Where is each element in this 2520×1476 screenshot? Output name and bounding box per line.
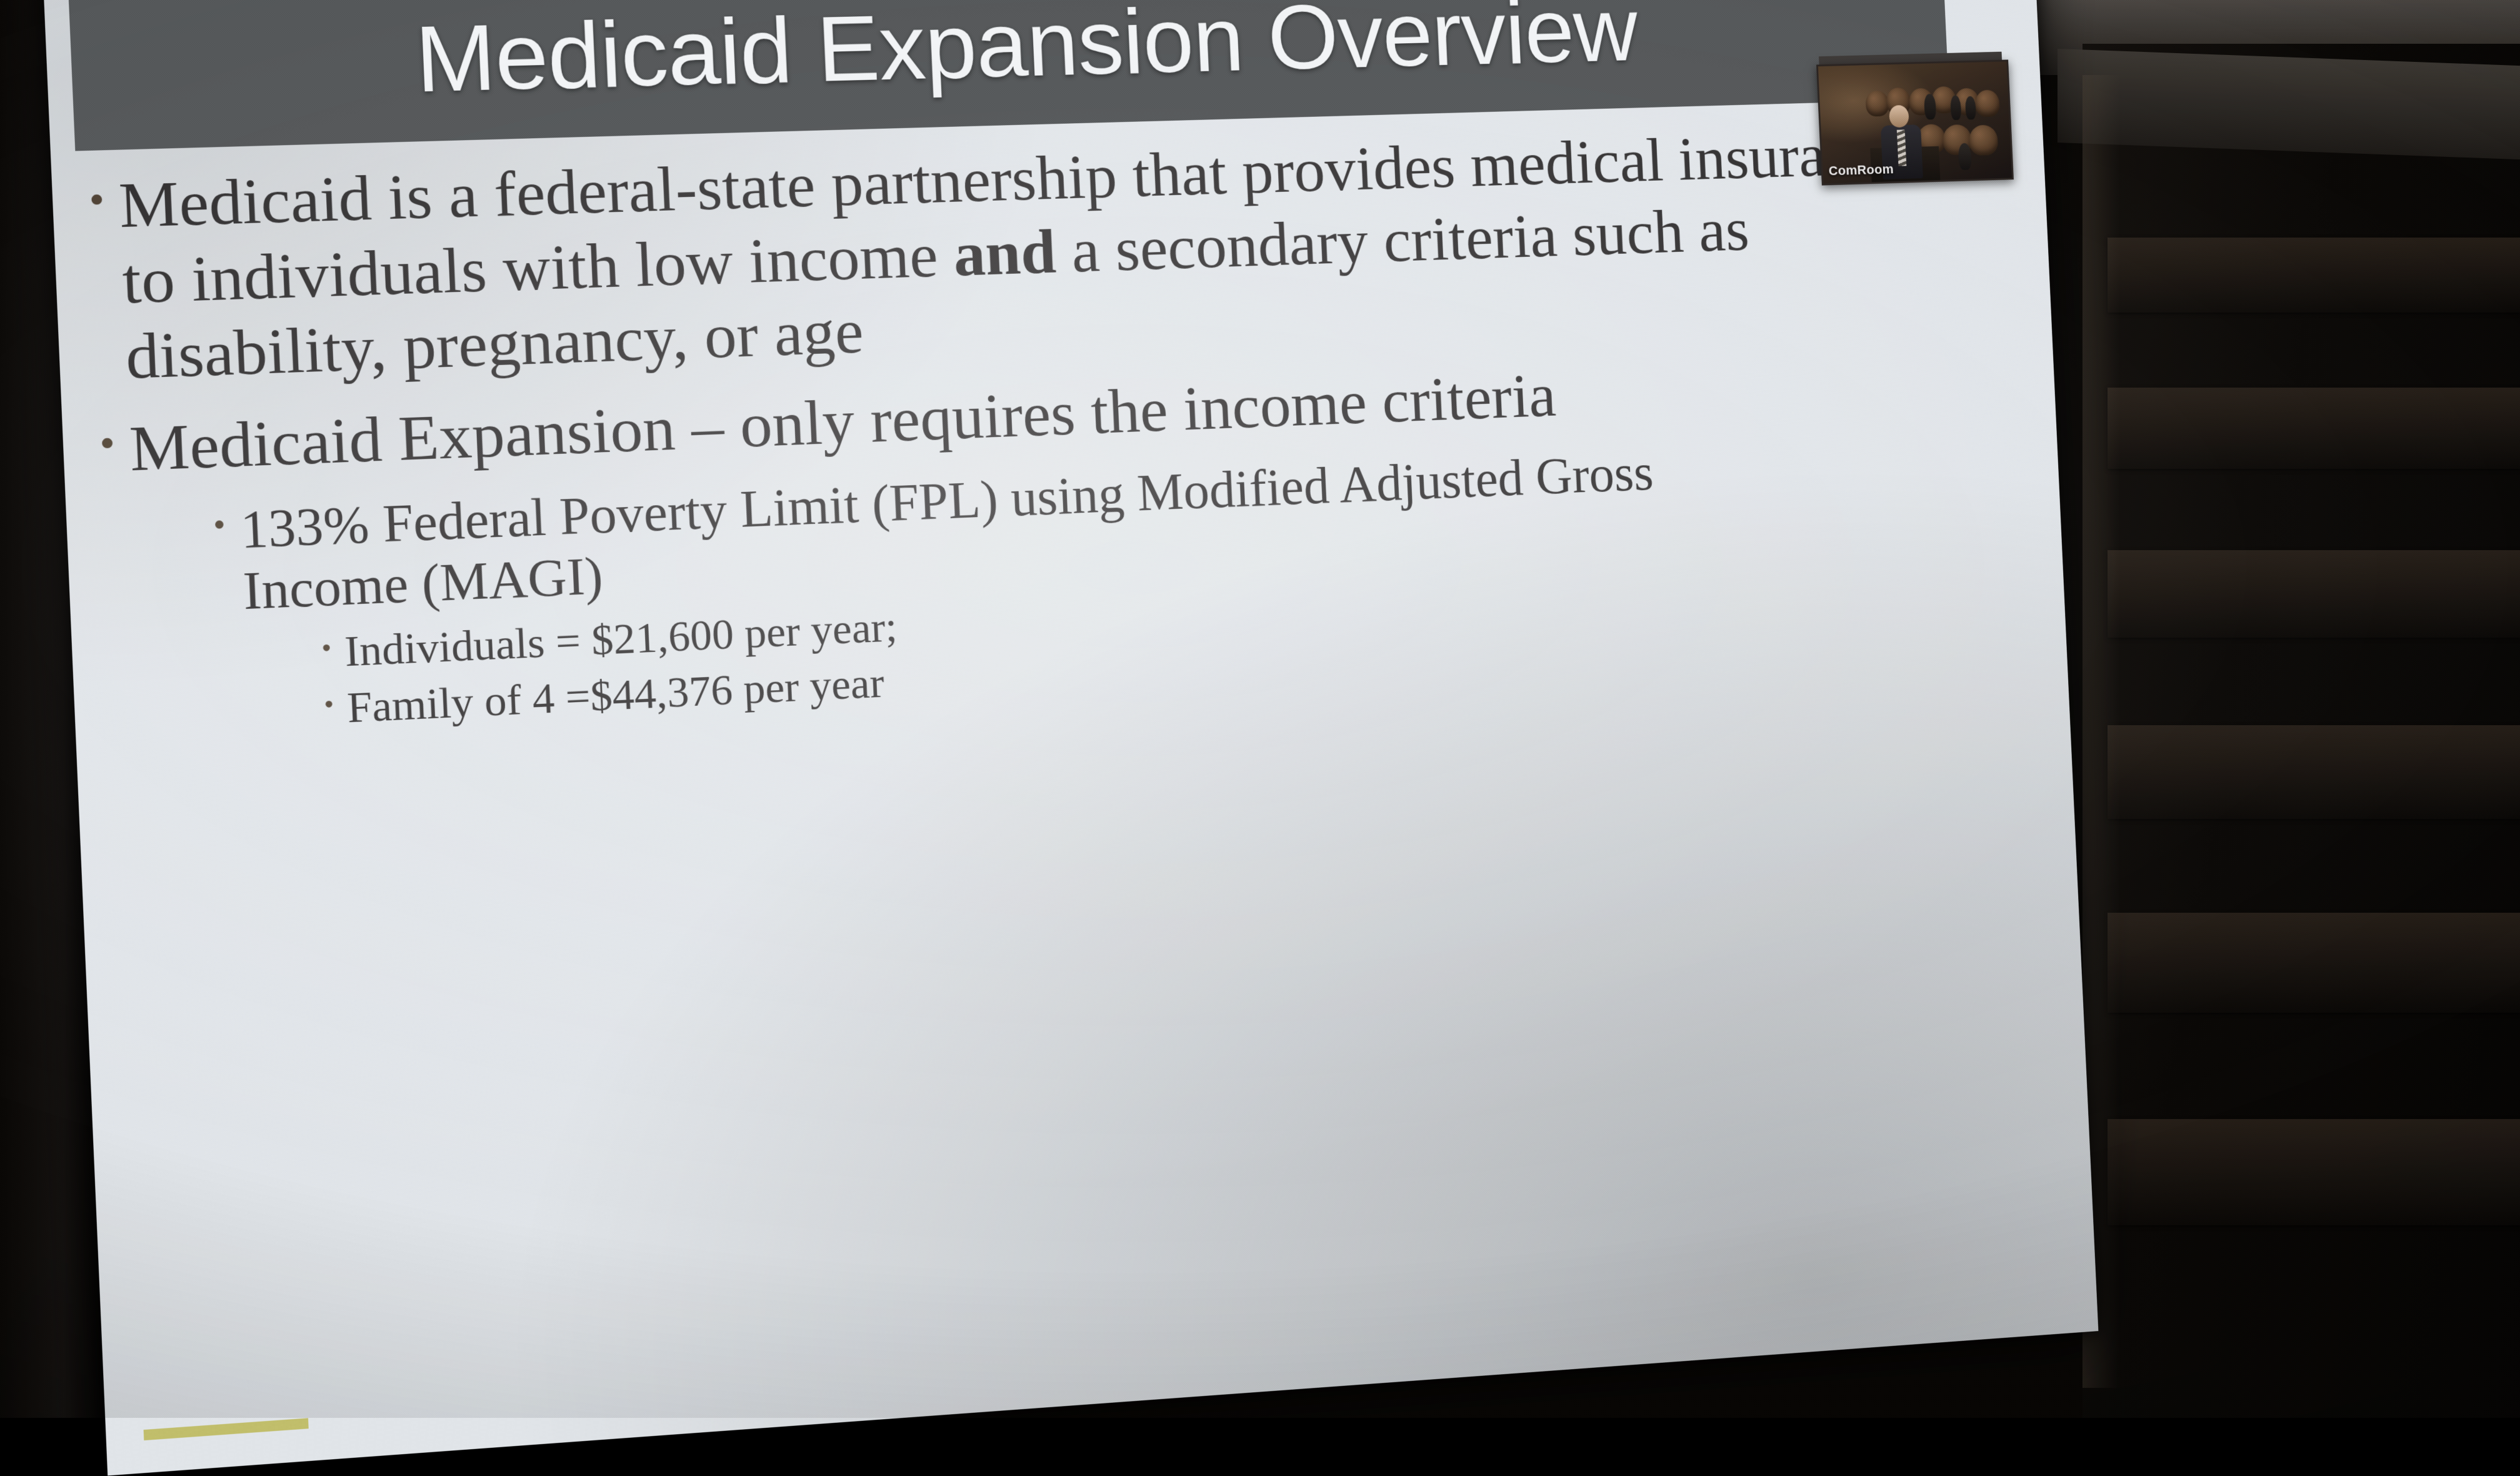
presentation-slide: You are screen sharing Stop share Medica… (42, 0, 2099, 1475)
page-title: Medicaid Expansion Overview (413, 0, 1639, 114)
bullet-item: • Medicaid is a federal-state partnershi… (87, 117, 1936, 396)
slide-accent-bar (144, 1418, 309, 1440)
bullet-text-emphasis: and (952, 216, 1057, 289)
bullet-marker: • (98, 411, 131, 474)
pip-participant-label: ComRoom (1828, 161, 1894, 178)
bullet-marker: • (212, 499, 241, 550)
bullet-marker: • (87, 168, 120, 231)
bullet-text: Medicaid is a federal-state partnership … (117, 117, 1936, 395)
projection-screen-area: You are screen sharing Stop share Medica… (0, 0, 2520, 1418)
pip-speaker-tie (1897, 129, 1906, 166)
bullet-marker: • (323, 683, 348, 725)
webcam-thumbnail[interactable]: ComRoom (1816, 59, 2014, 185)
projection-screen: You are screen sharing Stop share Medica… (42, 0, 2099, 1475)
bullet-marker: • (321, 627, 346, 669)
slide-body: • Medicaid is a federal-state partnershi… (87, 117, 1951, 751)
